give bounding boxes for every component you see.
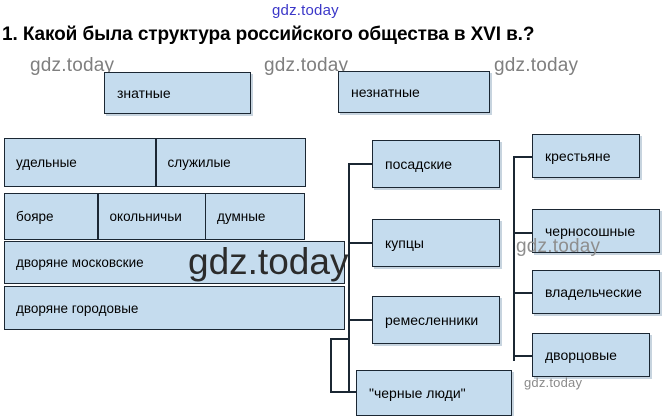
connector-chernye-lyudi-drop [330,338,332,392]
box-sluzhilye: служилые [156,138,306,187]
box-kuptsy-label: купцы [373,235,424,251]
connector-to-dvortsovye [513,355,533,357]
box-chernososhnye-label: черносошные [533,223,635,239]
watermark-top: gdz.today [272,2,339,19]
box-dvoryane-moskovskie: дворяне московские [4,241,345,284]
box-vladelcheskie: владельческие [532,270,660,314]
box-chernye-lyudi-label: "черные люди" [357,385,466,401]
box-commoner-header: незнатные [338,71,490,113]
box-remeslenniki: ремесленники [372,296,500,344]
connector-to-chernososhnye [513,232,533,234]
connector-to-remeslenniki [348,319,373,321]
watermark-row-3: gdz.today [494,55,578,77]
connector-to-chernye-lyudi [330,391,357,393]
box-kuptsy: купцы [372,219,500,267]
watermark-row-1: gdz.today [30,55,114,77]
box-noble-header-label: знатные [105,85,171,101]
page-title: 1. Какой была структура российского обще… [2,24,534,46]
connector-to-vladelcheskie [513,292,533,294]
box-posadskie-label: посадские [373,156,452,172]
box-posadskie: посадские [372,140,500,188]
box-sluzhilye-label: служилые [157,155,231,170]
box-chernososhnye: черносошные [532,209,660,253]
box-dvoryane-gorodovye: дворяне городовые [4,286,345,330]
box-dumnye: думные [205,193,305,240]
box-remeslenniki-label: ремесленники [373,312,478,328]
connector-peasant-trunk [513,156,515,361]
box-dvortsovye: дворцовые [532,333,650,377]
box-dumnye-label: думные [206,209,265,224]
box-udelnye-label: удельные [5,155,77,170]
box-krestyane-label: крестьяне [533,148,611,164]
box-krestyane: крестьяне [532,134,640,178]
box-noble-header: знатные [104,72,251,114]
box-boyare-label: бояре [5,209,54,224]
box-okolnichi: окольничьи [98,193,206,240]
box-vladelcheskie-label: владельческие [533,284,642,300]
connector-to-krestyane [513,156,533,158]
box-chernye-lyudi: "черные люди" [356,370,512,416]
connector-commoner-trunk [348,163,350,391]
connector-to-kuptsy [348,242,373,244]
watermark-row-2: gdz.today [264,55,348,77]
box-okolnichi-label: окольничьи [99,209,182,224]
watermark-bottom: gdz.today [524,375,582,390]
connector-to-posadskie [348,163,373,165]
box-boyare: бояре [4,193,98,240]
box-dvoryane-moskovskie-label: дворяне московские [5,255,144,270]
diagram-canvas: gdz.today gdz.today gdz.today gdz.today … [0,0,666,416]
box-dvortsovye-label: дворцовые [533,347,617,363]
box-udelnye: удельные [4,138,156,187]
box-commoner-header-label: незнатные [339,84,420,100]
box-dvoryane-gorodovye-label: дворяне городовые [5,301,138,316]
connector-chernye-lyudi-join [330,338,349,340]
